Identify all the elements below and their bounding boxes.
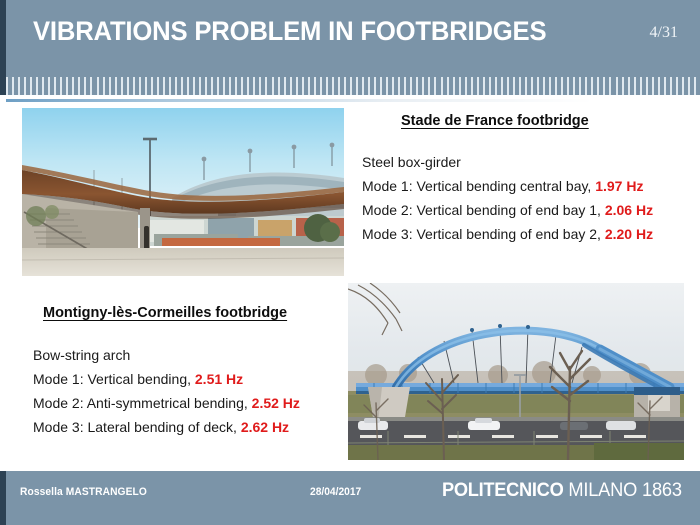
- header-tick: [422, 77, 424, 95]
- header-tick: [483, 77, 485, 95]
- header-tick: [84, 77, 86, 95]
- header-tick: [501, 77, 503, 95]
- header-tick: [308, 77, 310, 95]
- header-tick: [127, 77, 129, 95]
- header-tick: [694, 77, 696, 95]
- header-tick: [392, 77, 394, 95]
- header-tick: [519, 77, 521, 95]
- header-tick: [555, 77, 557, 95]
- stade-section-body: Steel box-girder Mode 1: Vertical bendin…: [362, 150, 653, 246]
- header-tick: [193, 77, 195, 95]
- header-tick: [664, 77, 666, 95]
- header-tick: [549, 77, 551, 95]
- header-tick: [513, 77, 515, 95]
- montigny-line-0-text: Bow-string arch: [33, 347, 130, 363]
- stade-de-france-footbridge-photo: [22, 108, 344, 276]
- montigny-section-heading: Montigny-lès-Cormeilles footbridge: [43, 305, 287, 321]
- header-tick: [622, 77, 624, 95]
- montigny-line-2-text: Mode 2: Anti-symmetrical bending,: [33, 395, 252, 411]
- header-tick: [404, 77, 406, 95]
- header-tick: [688, 77, 690, 95]
- header-tick: [60, 77, 62, 95]
- header-tick: [284, 77, 286, 95]
- header-tick: [290, 77, 292, 95]
- header-tick: [278, 77, 280, 95]
- header-tick: [326, 77, 328, 95]
- header-tick: [658, 77, 660, 95]
- header-tick: [78, 77, 80, 95]
- header-tick: [350, 77, 352, 95]
- header-tick: [199, 77, 201, 95]
- header-tick: [603, 77, 605, 95]
- header-tick: [109, 77, 111, 95]
- page-title: VIBRATIONS PROBLEM IN FOOTBRIDGES: [33, 16, 546, 47]
- montigny-line-3-freq: 2.62 Hz: [241, 419, 289, 435]
- montigny-les-cormeilles-footbridge-photo: [348, 283, 684, 460]
- header-tick: [320, 77, 322, 95]
- stade-section-heading: Stade de France footbridge: [401, 113, 589, 129]
- header-tick: [151, 77, 153, 95]
- header-tick: [24, 77, 26, 95]
- header-tick: [428, 77, 430, 95]
- stade-line-3-text: Mode 3: Vertical bending of end bay 2,: [362, 226, 605, 242]
- header-tick: [229, 77, 231, 95]
- header-tick: [133, 77, 135, 95]
- stade-line-2-freq: 2.06 Hz: [605, 202, 653, 218]
- montigny-line-3: Mode 3: Lateral bending of deck, 2.62 Hz: [33, 415, 300, 439]
- header-tick: [145, 77, 147, 95]
- header-tick: [205, 77, 207, 95]
- header-tick: [12, 77, 14, 95]
- header-tick: [579, 77, 581, 95]
- stade-line-0-text: Steel box-girder: [362, 154, 461, 170]
- header-tick: [453, 77, 455, 95]
- header-tick: [42, 77, 44, 95]
- header-tick: [253, 77, 255, 95]
- header-tick: [465, 77, 467, 95]
- header-tick: [211, 77, 213, 95]
- header-tick: [434, 77, 436, 95]
- header-tick: [157, 77, 159, 95]
- montigny-line-1: Mode 1: Vertical bending, 2.51 Hz: [33, 367, 300, 391]
- header-tick: [447, 77, 449, 95]
- header-tick: [121, 77, 123, 95]
- stade-line-2: Mode 2: Vertical bending of end bay 1, 2…: [362, 198, 653, 222]
- header-tick: [531, 77, 533, 95]
- header-tick: [72, 77, 74, 95]
- header-tick: [48, 77, 50, 95]
- header-tick: [676, 77, 678, 95]
- header-tick: [356, 77, 358, 95]
- header-tick: [296, 77, 298, 95]
- header-tick: [567, 77, 569, 95]
- header-tick: [6, 77, 8, 95]
- montigny-line-1-text: Mode 1: Vertical bending,: [33, 371, 195, 387]
- header-tick: [609, 77, 611, 95]
- montigny-section-body: Bow-string arch Mode 1: Vertical bending…: [33, 343, 300, 439]
- montigny-line-0: Bow-string arch: [33, 343, 300, 367]
- header-tick-ruler: [6, 77, 700, 95]
- montigny-line-2-freq: 2.52 Hz: [252, 395, 300, 411]
- header-tick: [543, 77, 545, 95]
- header-tick: [410, 77, 412, 95]
- stade-line-2-text: Mode 2: Vertical bending of end bay 1,: [362, 202, 605, 218]
- header-tick: [670, 77, 672, 95]
- politecnico-milano-logo: POLITECNICO MILANO 1863: [442, 480, 682, 502]
- montigny-line-2: Mode 2: Anti-symmetrical bending, 2.52 H…: [33, 391, 300, 415]
- header-tick: [115, 77, 117, 95]
- header-tick: [235, 77, 237, 95]
- stade-line-1-text: Mode 1: Vertical bending central bay,: [362, 178, 595, 194]
- header-tick: [652, 77, 654, 95]
- header-tick: [54, 77, 56, 95]
- slide-footer: Rossella MASTRANGELO 28/04/2017 POLITECN…: [0, 471, 700, 525]
- header-tick: [591, 77, 593, 95]
- header-tick: [573, 77, 575, 95]
- header-tick: [223, 77, 225, 95]
- stade-line-1: Mode 1: Vertical bending central bay, 1.…: [362, 174, 653, 198]
- header-tick: [36, 77, 38, 95]
- header-tick: [314, 77, 316, 95]
- stade-line-0: Steel box-girder: [362, 150, 653, 174]
- header-tick: [272, 77, 274, 95]
- header-tick: [398, 77, 400, 95]
- header-tick: [495, 77, 497, 95]
- header-tick: [338, 77, 340, 95]
- montigny-line-3-text: Mode 3: Lateral bending of deck,: [33, 419, 241, 435]
- header-tick: [368, 77, 370, 95]
- slide: VIBRATIONS PROBLEM IN FOOTBRIDGES 4/31: [0, 0, 700, 525]
- header-tick: [525, 77, 527, 95]
- header-tick: [103, 77, 105, 95]
- stade-line-3-freq: 2.20 Hz: [605, 226, 653, 242]
- header-tick: [628, 77, 630, 95]
- header-tick: [332, 77, 334, 95]
- header-tick: [507, 77, 509, 95]
- header-tick: [380, 77, 382, 95]
- header-tick: [634, 77, 636, 95]
- header-tick: [30, 77, 32, 95]
- footer-date: 28/04/2017: [310, 486, 361, 498]
- header-tick: [259, 77, 261, 95]
- header-tick: [181, 77, 183, 95]
- header-tick: [90, 77, 92, 95]
- page-number: 4/31: [650, 24, 678, 42]
- header-tick: [459, 77, 461, 95]
- header-underline-gradient: [6, 99, 696, 102]
- header-tick: [597, 77, 599, 95]
- header-tick: [537, 77, 539, 95]
- stade-line-1-freq: 1.97 Hz: [595, 178, 643, 194]
- header-tick: [139, 77, 141, 95]
- footer-author: Rossella MASTRANGELO: [20, 486, 147, 498]
- header-tick: [561, 77, 563, 95]
- header-tick: [471, 77, 473, 95]
- header-tick: [416, 77, 418, 95]
- header-tick: [175, 77, 177, 95]
- header-tick: [386, 77, 388, 95]
- header-tick: [66, 77, 68, 95]
- header-tick: [241, 77, 243, 95]
- header-tick: [265, 77, 267, 95]
- header-tick: [247, 77, 249, 95]
- header-tick: [302, 77, 304, 95]
- header-tick: [646, 77, 648, 95]
- logo-milano-1863: MILANO 1863: [564, 480, 682, 501]
- stade-line-3: Mode 3: Vertical bending of end bay 2, 2…: [362, 222, 653, 246]
- header-tick: [477, 77, 479, 95]
- header-tick: [362, 77, 364, 95]
- footer-left-accent-bar: [0, 471, 6, 525]
- slide-header: VIBRATIONS PROBLEM IN FOOTBRIDGES 4/31: [0, 0, 700, 95]
- header-tick: [217, 77, 219, 95]
- header-tick: [441, 77, 443, 95]
- header-tick: [163, 77, 165, 95]
- header-tick: [169, 77, 171, 95]
- header-tick: [616, 77, 618, 95]
- montigny-line-1-freq: 2.51 Hz: [195, 371, 243, 387]
- header-tick: [489, 77, 491, 95]
- header-tick: [585, 77, 587, 95]
- header-tick: [97, 77, 99, 95]
- header-tick: [18, 77, 20, 95]
- header-tick: [187, 77, 189, 95]
- header-tick: [374, 77, 376, 95]
- logo-politecnico: POLITECNICO: [442, 480, 563, 501]
- header-tick: [640, 77, 642, 95]
- header-tick: [682, 77, 684, 95]
- header-tick: [344, 77, 346, 95]
